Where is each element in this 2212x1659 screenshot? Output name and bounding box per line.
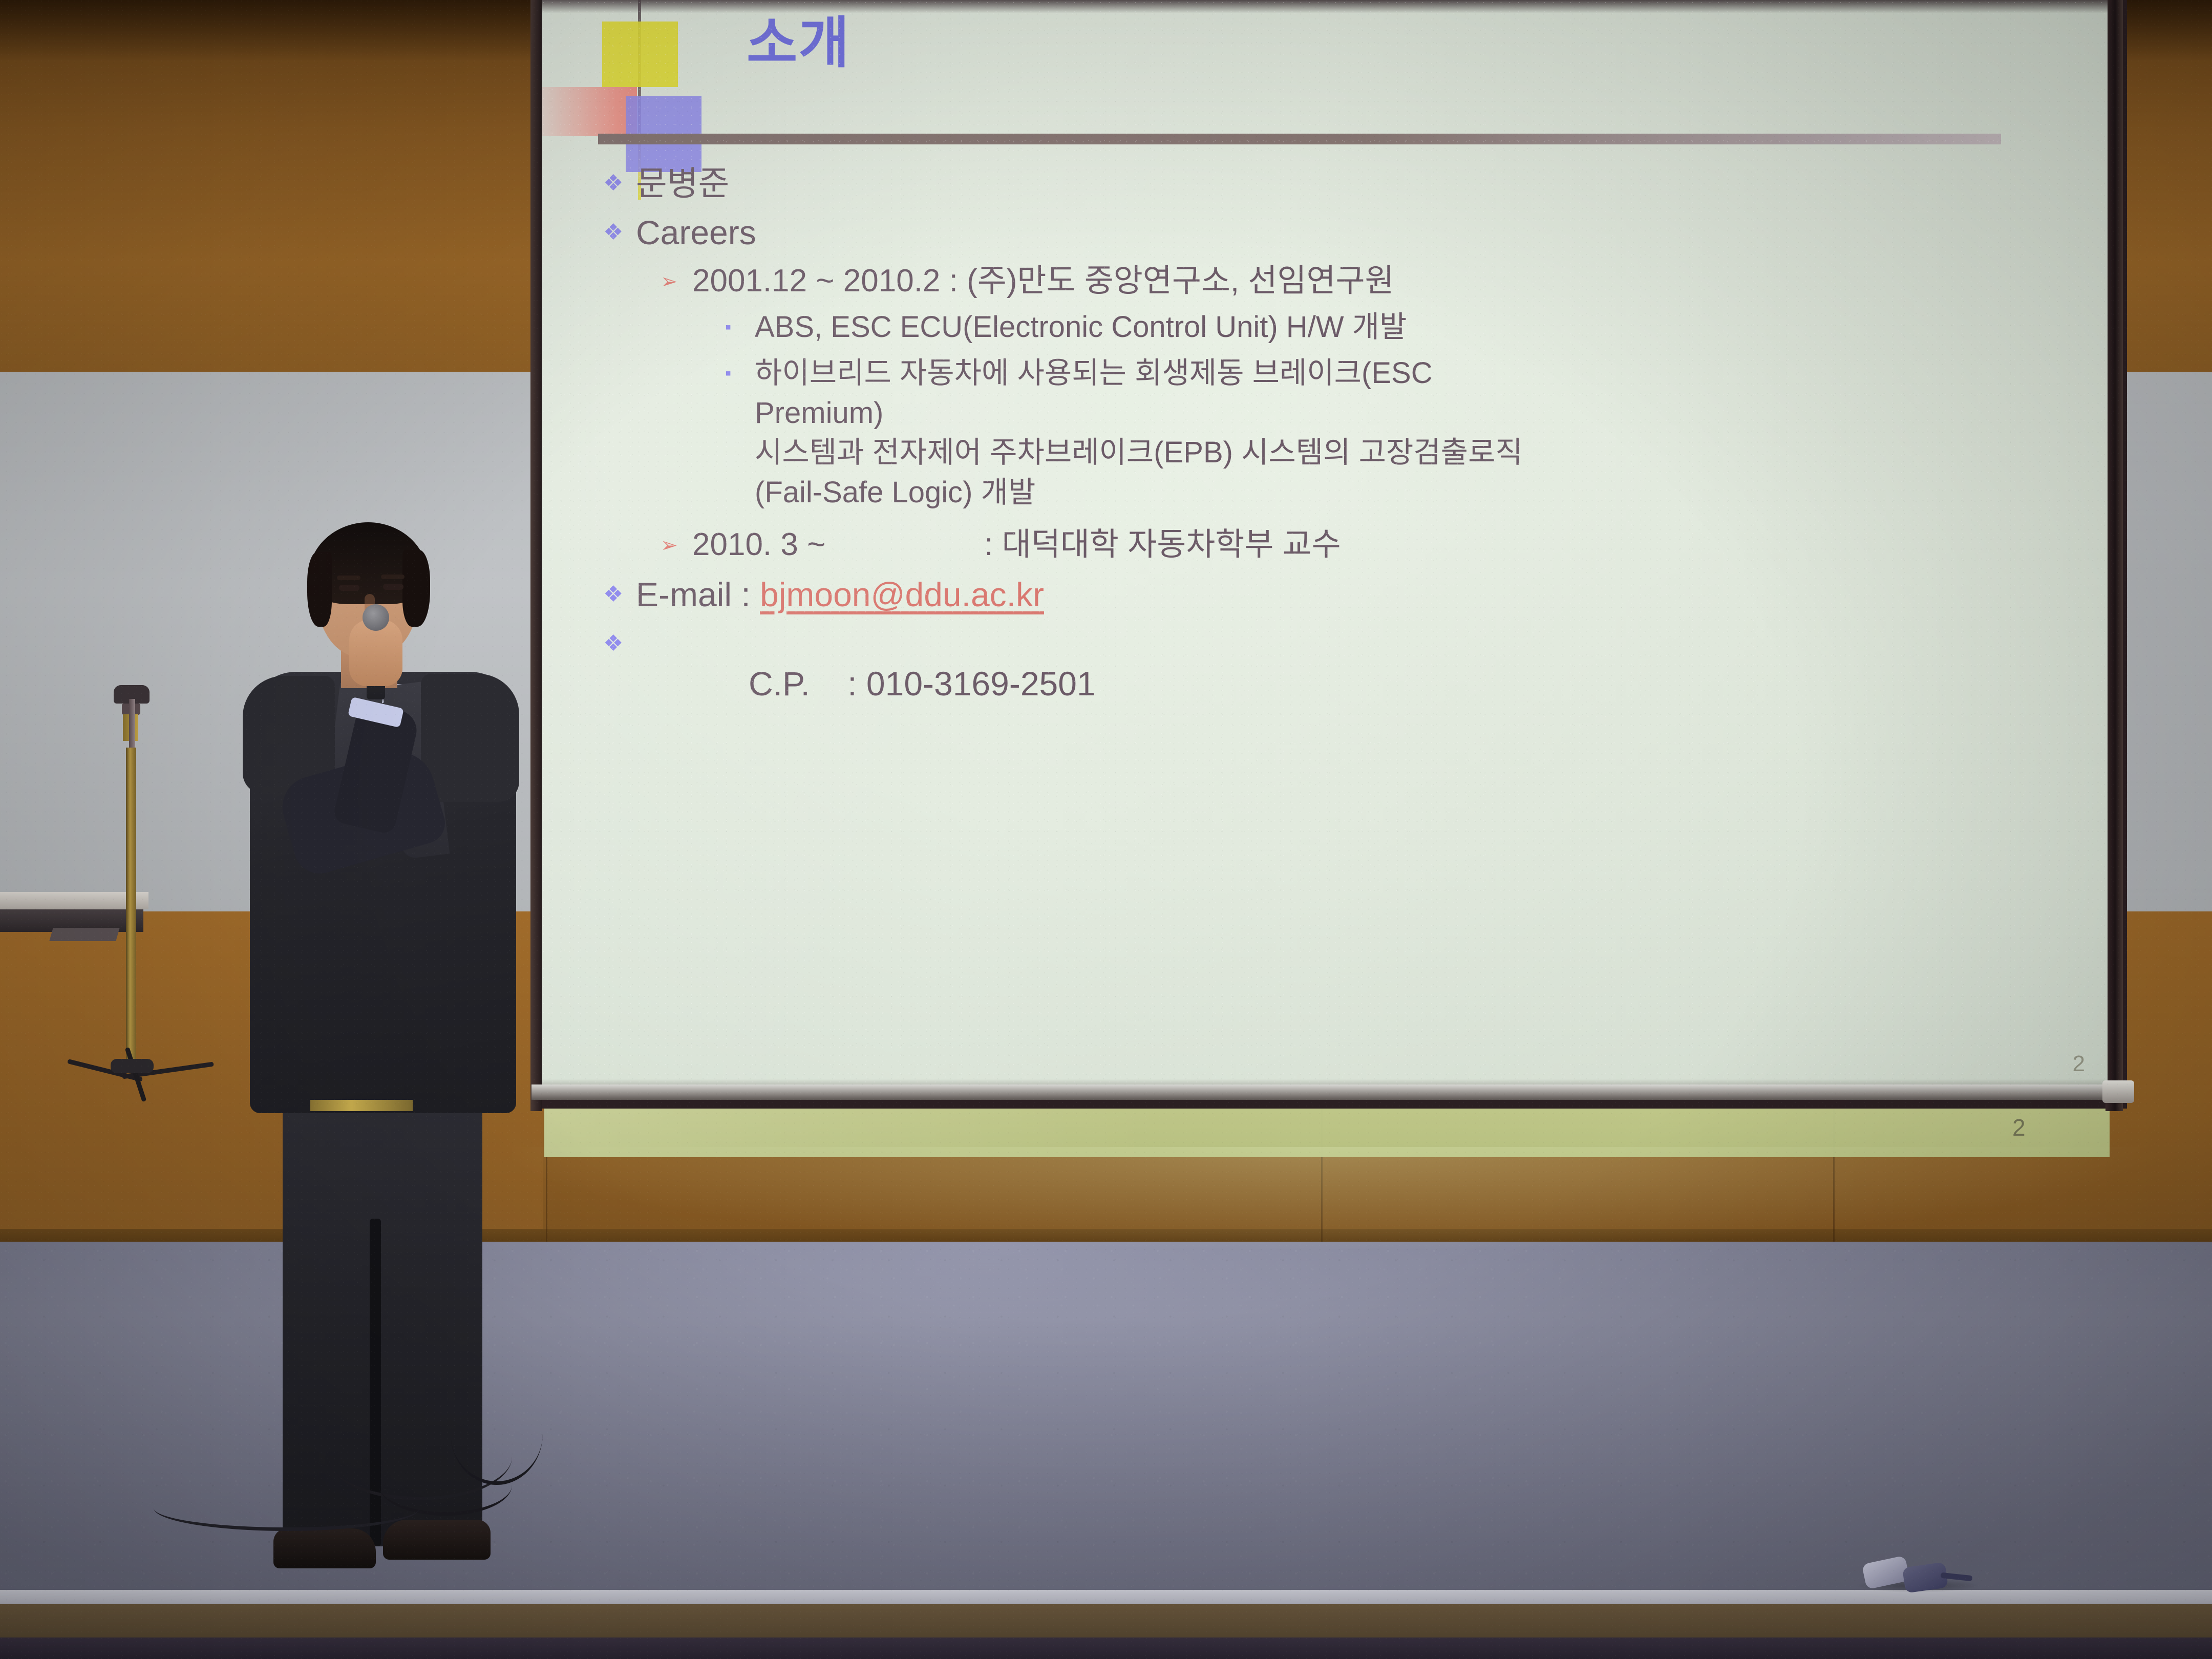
bullet-careers: ❖ Careers bbox=[603, 213, 2078, 253]
presenter-eye-left bbox=[339, 585, 359, 591]
wall-mid-right-panel bbox=[2120, 372, 2212, 914]
career-1-sub-2-line-3: 시스템과 전자제어 주차브레이크(EPB) 시스템의 고장검출로직 bbox=[755, 433, 1523, 473]
careers-heading-text: Careers bbox=[636, 213, 756, 253]
presenter-name-text: 문병준 bbox=[636, 164, 729, 204]
mic-stand-base-hub bbox=[111, 1059, 154, 1073]
career-1-sub-2-line-4: (Fail-Safe Logic) 개발 bbox=[755, 473, 1523, 513]
bullet-career-1: ➢ 2001.12 ~ 2010.2 : (주)만도 중앙연구소, 선임연구원 bbox=[661, 262, 2078, 300]
arrow-bullet-icon: ➢ bbox=[661, 526, 692, 556]
eyeglasses-on-floor[interactable] bbox=[1864, 1557, 1971, 1592]
title-underline-bar bbox=[598, 134, 2001, 144]
diamond-bullet-icon: ❖ bbox=[603, 575, 636, 606]
presenter-eyebrow-left bbox=[337, 576, 360, 580]
mic-stand-upper-pole bbox=[129, 699, 135, 755]
presenter-shoe-left bbox=[273, 1528, 376, 1568]
bullet-phone: ❖ C.P. : 010-3169-2501 bbox=[603, 624, 2078, 744]
career-1-text: 2001.12 ~ 2010.2 : (주)만도 중앙연구소, 선임연구원 bbox=[692, 262, 1394, 300]
diamond-bullet-icon: ❖ bbox=[603, 213, 636, 244]
projected-slide-number: 2 bbox=[2012, 1114, 2026, 1141]
floor-cable bbox=[451, 1382, 543, 1485]
email-hyperlink[interactable]: bjmoon@ddu.ac.kr bbox=[760, 576, 1044, 613]
presenter-shoulder-right bbox=[421, 674, 519, 802]
career-1-sub-2-line-2: Premium) bbox=[755, 393, 1523, 433]
phone-row: C.P. : 010-3169-2501 bbox=[636, 624, 1096, 744]
lecture-room: 2 소개 ❖ 문병준 ❖ Careers bbox=[0, 0, 2212, 1659]
career-1-sub-2-line-1: 하이브리드 자동차에 사용되는 회생제동 브레이크(ESC bbox=[755, 353, 1523, 393]
diamond-bullet-icon: ❖ bbox=[603, 164, 636, 195]
phone-value: 010-3169-2501 bbox=[866, 665, 1096, 703]
projection-screen: 소개 ❖ 문병준 ❖ Careers ➢ 2001.12 ~ 2010.2 : … bbox=[542, 0, 2108, 1088]
screen-bottom-roller-bar[interactable] bbox=[531, 1084, 2124, 1100]
email-row: E-mail : bjmoon@ddu.ac.kr bbox=[636, 575, 1044, 615]
bullet-name: ❖ 문병준 bbox=[603, 164, 2078, 204]
slide-page-number: 2 bbox=[2073, 1051, 2085, 1077]
bullet-career-2: ➢ 2010. 3 ~ : 대덕대학 자동차학부 교수 bbox=[661, 526, 2078, 564]
slide-title: 소개 bbox=[747, 15, 850, 71]
mic-stand-pole bbox=[126, 748, 136, 1065]
bullet-career-1-sub-2: ▪ 하이브리드 자동차에 사용되는 회생제동 브레이크(ESC Premium)… bbox=[725, 353, 2078, 513]
presenter-eye-right bbox=[383, 584, 403, 590]
slide-body: ❖ 문병준 ❖ Careers ➢ 2001.12 ~ 2010.2 : (주)… bbox=[603, 164, 2078, 753]
square-bullet-icon: ▪ bbox=[725, 353, 755, 382]
presenter-hair-side-left bbox=[307, 552, 332, 627]
stage-foreground-shadow bbox=[0, 1637, 2212, 1659]
side-table-shelf bbox=[49, 928, 119, 941]
powerpoint-slide: 소개 ❖ 문병준 ❖ Careers ➢ 2001.12 ~ 2010.2 : … bbox=[542, 0, 2108, 1088]
email-label: E-mail : bbox=[636, 576, 760, 613]
career-1-sub-1-text: ABS, ESC ECU(Electronic Control Unit) H/… bbox=[755, 307, 1407, 347]
screen-right-edge bbox=[2105, 0, 2123, 1111]
bullet-email: ❖ E-mail : bjmoon@ddu.ac.kr bbox=[603, 575, 2078, 615]
stage-front-face bbox=[0, 1604, 2212, 1637]
projector-glow bbox=[512, 1147, 2140, 1249]
microphone-head-icon[interactable] bbox=[363, 604, 389, 631]
screen-roller-end-cap[interactable] bbox=[2102, 1080, 2134, 1103]
presenter-hair-side-right bbox=[402, 550, 430, 627]
bullet-career-1-sub-1: ▪ ABS, ESC ECU(Electronic Control Unit) … bbox=[725, 307, 2078, 347]
decoration-salmon-rectangle bbox=[542, 87, 637, 136]
arrow-bullet-icon: ➢ bbox=[661, 262, 692, 292]
decoration-yellow-square bbox=[602, 22, 678, 87]
career-2-text: 2010. 3 ~ : 대덕대학 자동차학부 교수 bbox=[692, 526, 1341, 564]
floor-cable bbox=[154, 1485, 420, 1531]
presenter-belt bbox=[310, 1100, 413, 1111]
square-bullet-icon: ▪ bbox=[725, 307, 755, 336]
career-1-sub-2-block: 하이브리드 자동차에 사용되는 회생제동 브레이크(ESC Premium) 시… bbox=[755, 353, 1523, 513]
presenter-eyebrow-right bbox=[381, 575, 405, 579]
presenter-shoe-right bbox=[383, 1520, 491, 1560]
phone-label: C.P. : bbox=[749, 665, 866, 703]
diamond-bullet-icon: ❖ bbox=[603, 624, 636, 655]
